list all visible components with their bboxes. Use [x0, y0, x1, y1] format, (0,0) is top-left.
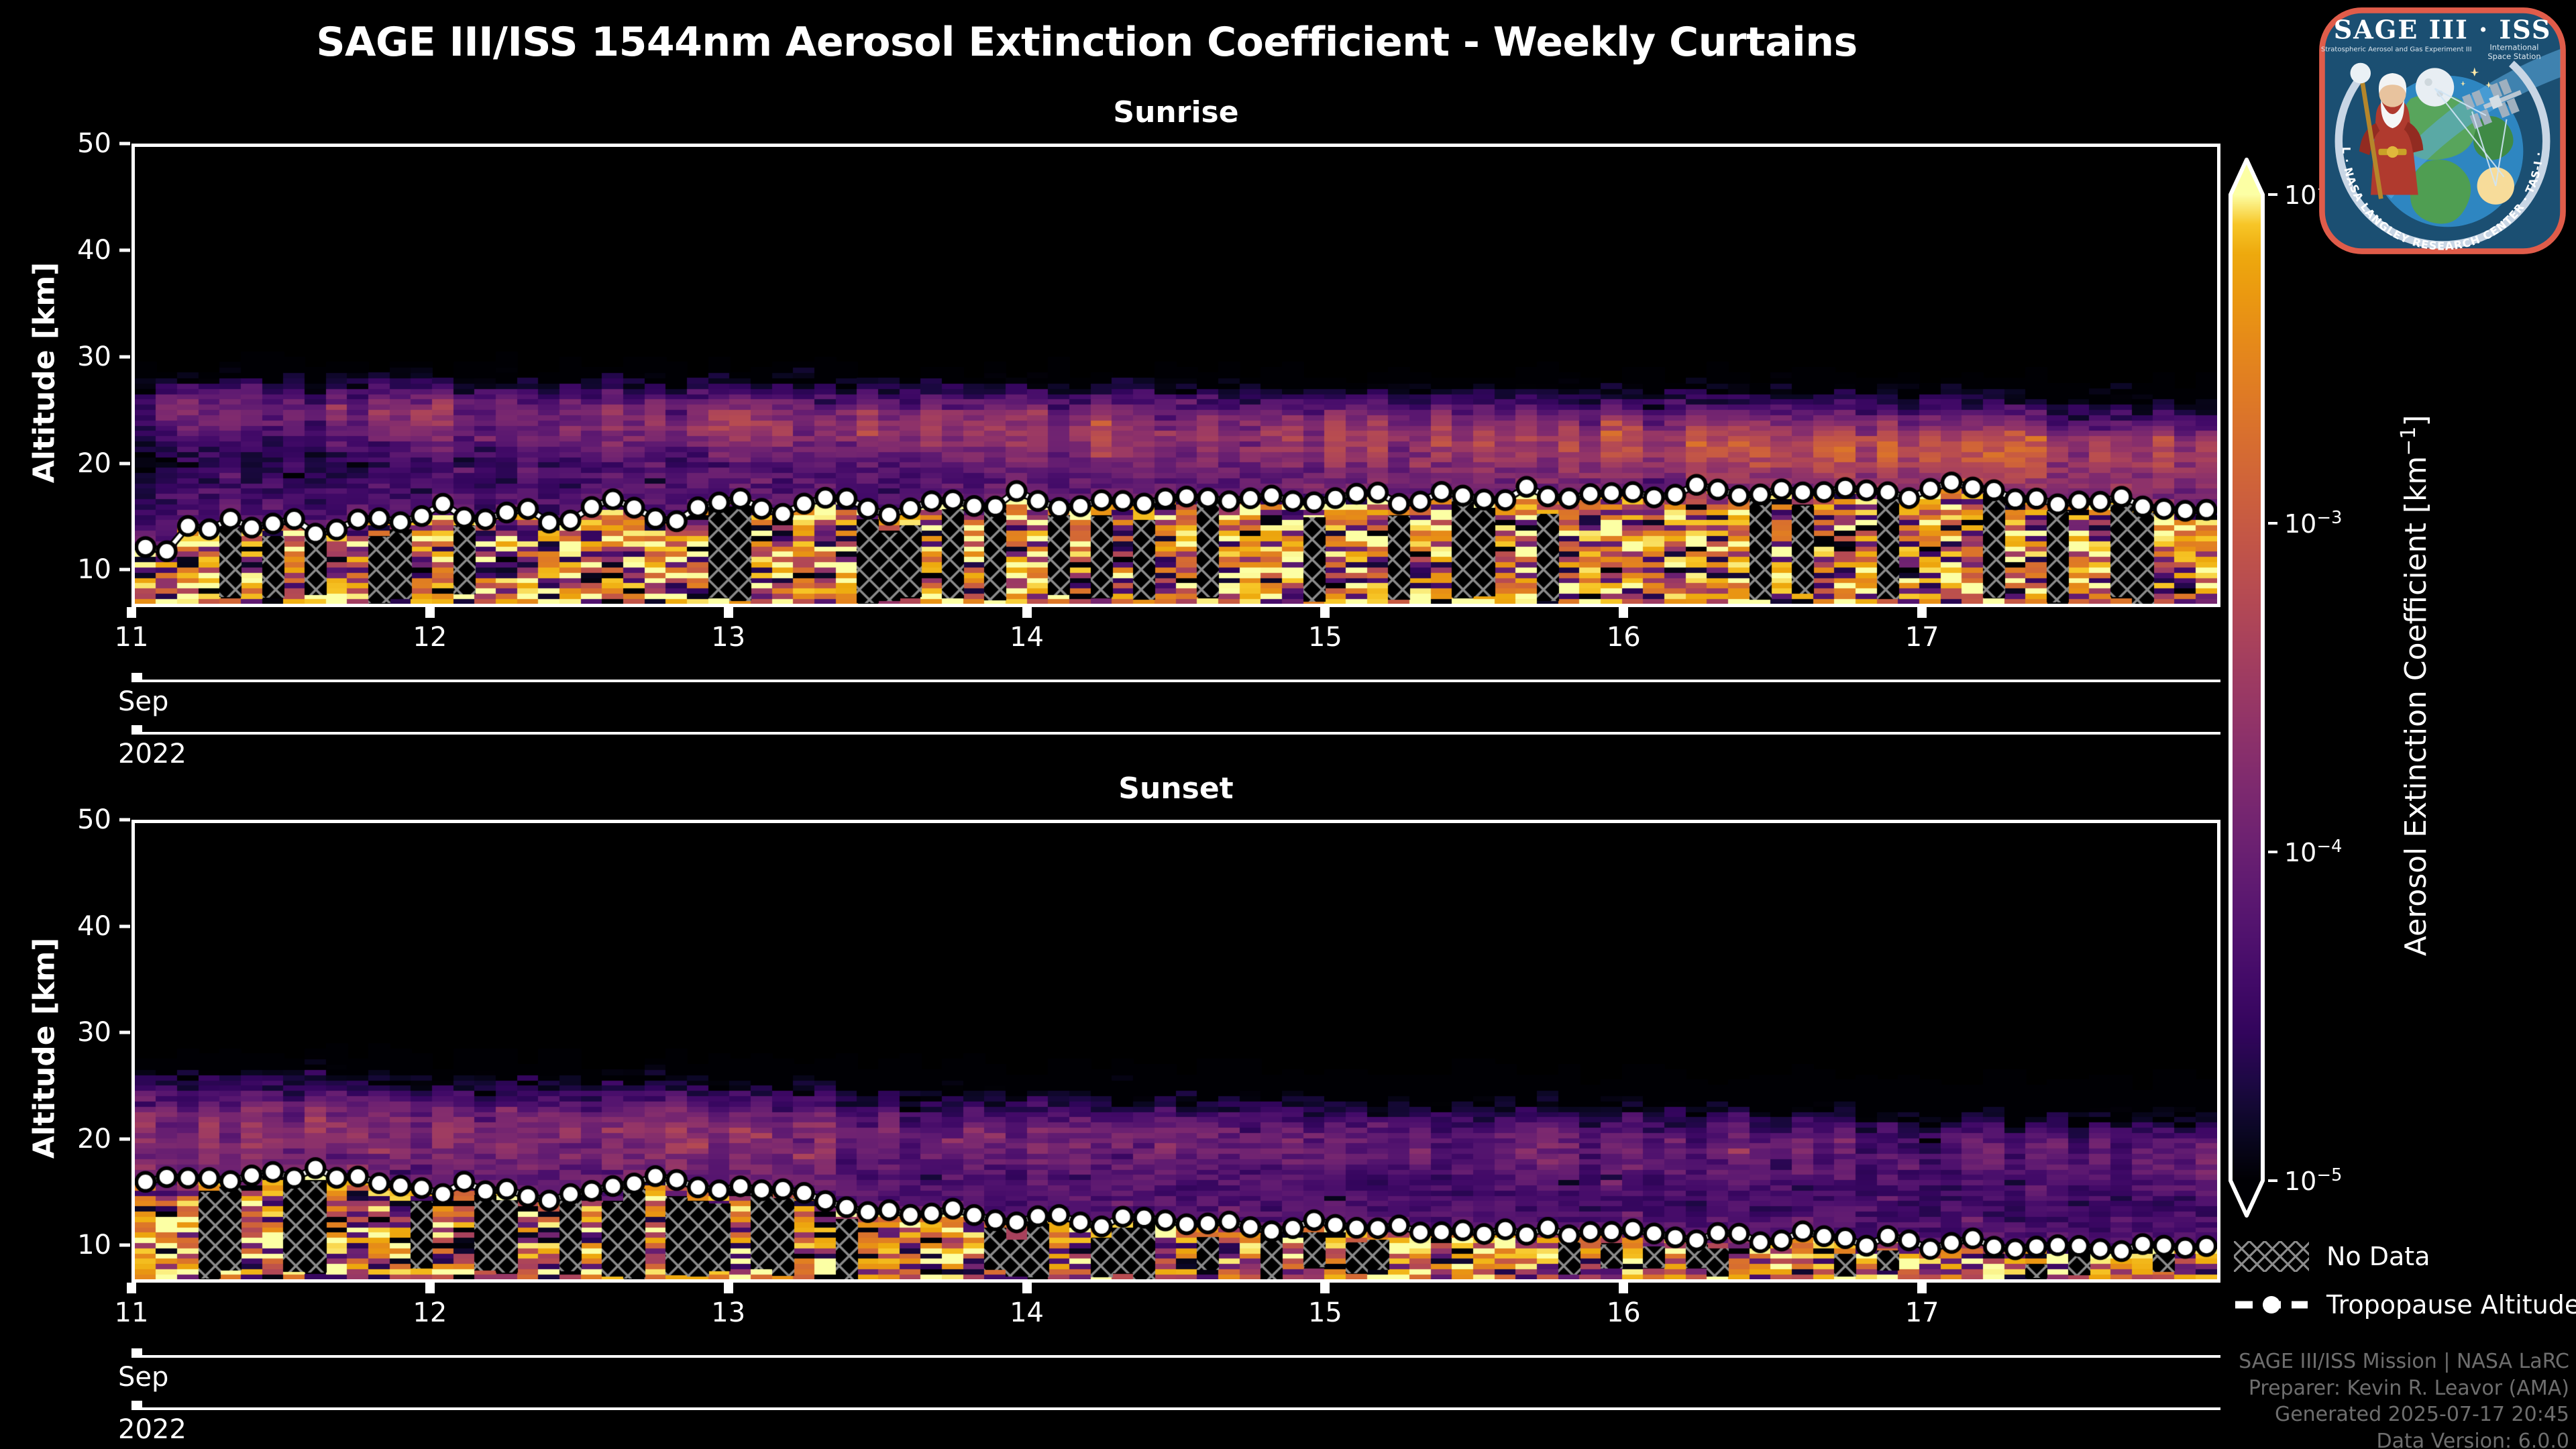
colorbar-tick-label: 10−4 — [2284, 837, 2342, 867]
sage-iii-iss-mission-patch-logo: SAGE III · ISSStratospheric Aerosol and … — [2314, 3, 2571, 259]
credit-line-version: Data Version: 6.0.0 — [2059, 1428, 2569, 1449]
colorbar-tick-mark — [2268, 193, 2277, 196]
no-data-hatch-icon — [2234, 1241, 2309, 1272]
legend: No Data Tropopause Altitude — [2234, 1241, 2576, 1338]
logo-subtitle-right-2: Space Station — [2487, 52, 2540, 61]
credit-line-generated: Generated 2025-07-17 20:45 — [2059, 1401, 2569, 1428]
colorbar-tick-label: 10−3 — [2284, 508, 2342, 539]
colorbar-tick-mark — [2268, 522, 2277, 525]
credit-line-mission: SAGE III/ISS Mission | NASA LaRC — [2059, 1348, 2569, 1375]
legend-item-tropopause: Tropopause Altitude — [2234, 1289, 2576, 1320]
colorbar-tick-label: 10−5 — [2284, 1165, 2342, 1196]
logo-svg: SAGE III · ISSStratospheric Aerosol and … — [2314, 3, 2571, 259]
logo-title: SAGE III · ISS — [2334, 15, 2552, 45]
legend-label-no-data: No Data — [2326, 1242, 2430, 1271]
logo-subtitle-right-1: International — [2489, 43, 2538, 52]
legend-label-tropopause: Tropopause Altitude — [2326, 1290, 2576, 1320]
colorbar-tick-mark — [2268, 851, 2277, 853]
colorbar-ticks: 10−210−310−410−5 — [0, 0, 2576, 1449]
logo-subtitle-left: Stratospheric Aerosol and Gas Experiment… — [2321, 46, 2472, 54]
tropopause-marker-icon — [2234, 1289, 2309, 1320]
figure-root: SAGE III/ISS 1544nm Aerosol Extinction C… — [0, 0, 2576, 1449]
legend-item-no-data: No Data — [2234, 1241, 2576, 1272]
colorbar-axis-title: Aerosol Extinction Coefficient [km−1] — [2397, 283, 2433, 1088]
credit-line-preparer: Preparer: Kevin R. Leavor (AMA) — [2059, 1375, 2569, 1402]
credit-block: SAGE III/ISS Mission | NASA LaRC Prepare… — [2059, 1348, 2569, 1449]
colorbar-tick-mark — [2268, 1179, 2277, 1182]
